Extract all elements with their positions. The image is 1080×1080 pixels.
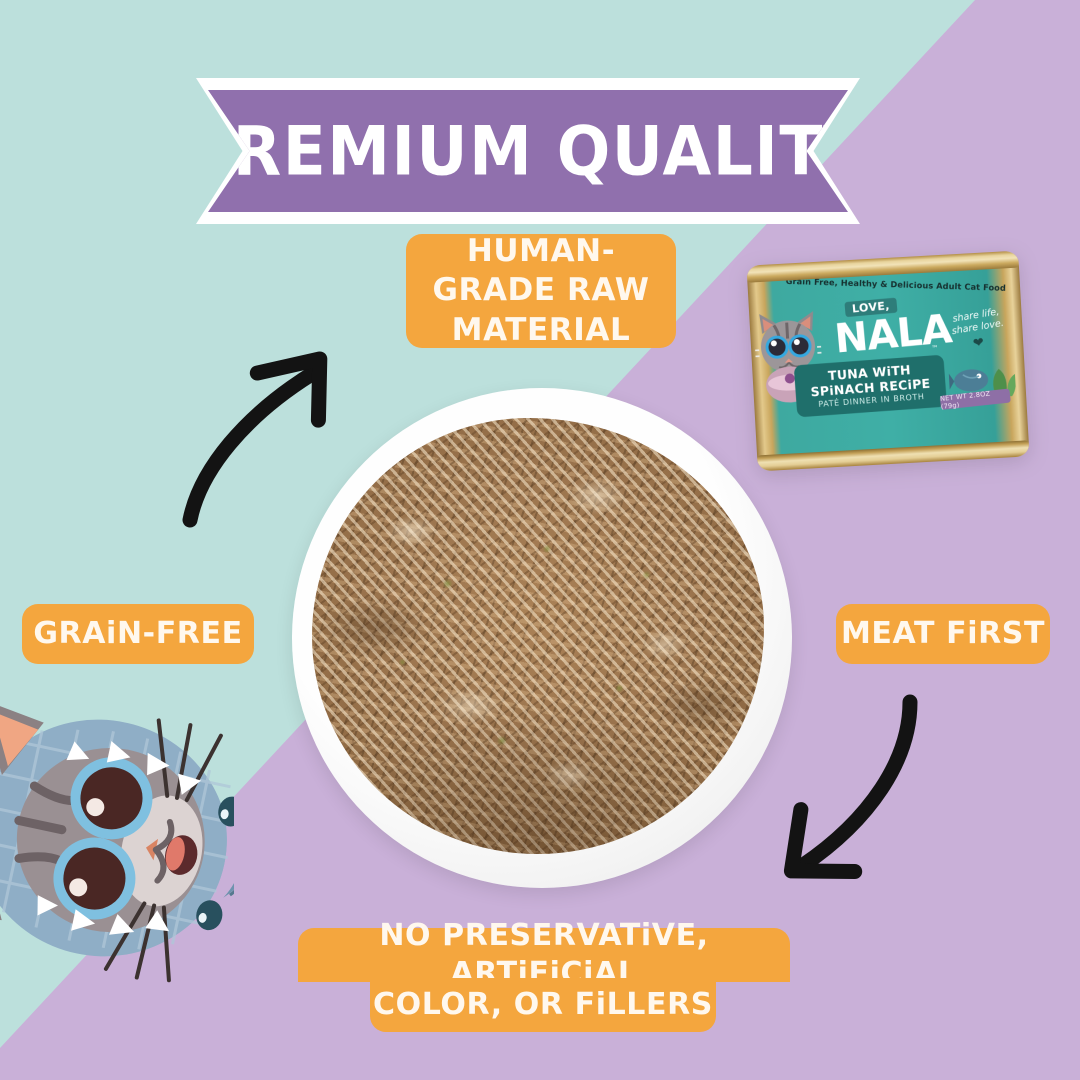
- marketing-graphic: PREMIUM QUALITY HUMAN-GRADE RAW MATERIAL…: [0, 0, 1080, 1080]
- premium-quality-banner: PREMIUM QUALITY: [196, 78, 860, 224]
- badge-meat-first-label: MEAT FiRST: [841, 615, 1045, 653]
- badge-grain-free-label: GRAiN-FREE: [33, 615, 242, 653]
- badge-no-fillers-line2: COLOR, OR FiLLERS: [370, 978, 716, 1032]
- cat-shark-mascot-icon: [0, 688, 234, 988]
- cat-food-portion: [312, 418, 764, 854]
- badge-meat-first: MEAT FiRST: [836, 604, 1050, 664]
- badge-human-grade: HUMAN-GRADE RAW MATERIAL: [406, 234, 676, 348]
- banner-body: PREMIUM QUALITY: [208, 90, 848, 212]
- can-brand-name: NALA: [833, 310, 940, 359]
- can-share-tagline: share life, share love.: [941, 305, 1014, 340]
- badge-no-fillers-line1: NO PRESERVATiVE, ARTiFiCiAL: [298, 928, 790, 982]
- can-body: Grain Free, Healthy & Delicious Adult Ca…: [746, 251, 1029, 472]
- badge-grain-free: GRAiN-FREE: [22, 604, 254, 664]
- badge-human-grade-label: HUMAN-GRADE RAW MATERIAL: [418, 232, 664, 351]
- product-can: Grain Free, Healthy & Delicious Adult Ca…: [746, 251, 1029, 472]
- heart-icon: ❤: [972, 335, 985, 352]
- can-label: Grain Free, Healthy & Delicious Adult Ca…: [747, 268, 1028, 456]
- badge-no-fillers-line2-label: COLOR, OR FiLLERS: [373, 986, 713, 1024]
- can-flavor-panel: TUNA WiTH SPiNACH RECiPE PATÉ DINNER IN …: [794, 355, 947, 418]
- banner-title: PREMIUM QUALITY: [185, 117, 871, 185]
- can-trademark-symbol: ™: [931, 344, 938, 352]
